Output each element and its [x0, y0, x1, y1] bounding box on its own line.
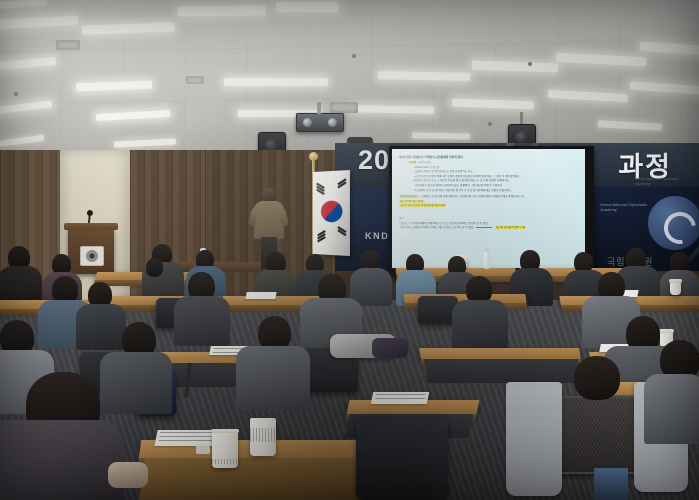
mesh-office-chair [556, 396, 646, 474]
lectern-emblem [80, 246, 104, 266]
cup-lid [211, 429, 239, 433]
paper-coffee-cup [250, 418, 276, 456]
audience-body-foreground [0, 420, 124, 500]
coat-draped-on-chair [506, 382, 562, 496]
lectern-top [64, 223, 118, 230]
water-bottle [484, 252, 490, 269]
cup-lid [669, 279, 682, 283]
table-row [419, 348, 581, 359]
cup-print-band [212, 459, 238, 464]
audience-body [100, 352, 172, 414]
cup-lid [659, 329, 674, 333]
speaker-mount-rod [520, 112, 523, 124]
audience-body [76, 304, 126, 350]
korean-national-flag [313, 170, 350, 256]
table-modesty-panel [424, 359, 581, 383]
printed-handout [245, 292, 276, 299]
lecture-hall-photograph: 20 과정 KNDA Korea National Diplomatic Aca… [0, 0, 699, 500]
cup-print-band [250, 428, 276, 442]
audience-jeans [594, 468, 628, 500]
folded-coat-dark [372, 338, 408, 358]
ceiling-projector [296, 113, 344, 132]
projector-lens-icon [328, 118, 337, 127]
wooden-lectern [68, 228, 114, 274]
audience-body [452, 300, 508, 350]
chair-foreground [356, 414, 448, 500]
printed-handout [371, 392, 430, 404]
paper-coffee-cup [670, 282, 681, 295]
audience-body [174, 296, 230, 346]
flag-highlight [313, 170, 350, 256]
presenter-jacket [254, 201, 284, 239]
paper-coffee-cup [212, 432, 238, 468]
projector-lens-icon [303, 118, 312, 127]
napkin [196, 444, 210, 454]
audience-head [574, 356, 620, 400]
audience-body [644, 374, 699, 444]
audience-body [236, 346, 310, 410]
ceiling-shading [0, 0, 699, 158]
audience-hand [108, 462, 148, 488]
audience-head [146, 258, 163, 277]
